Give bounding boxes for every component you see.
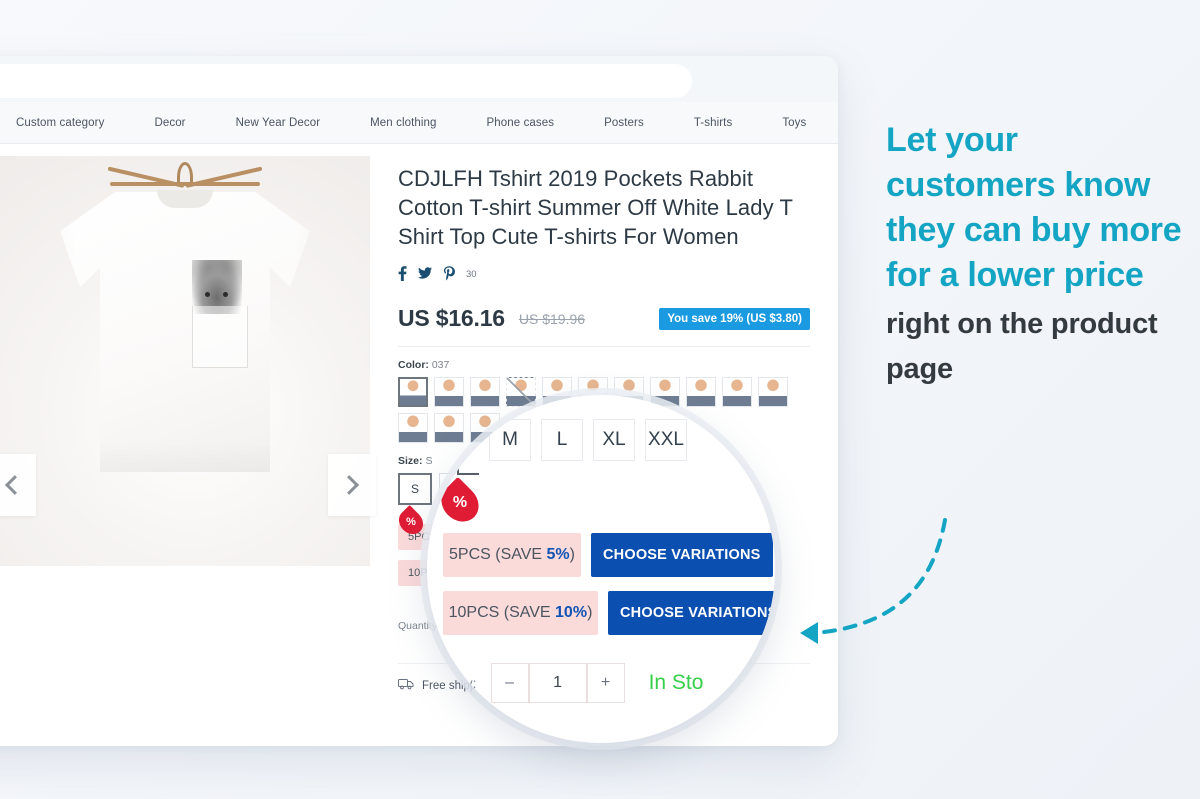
pinterest-icon[interactable] xyxy=(443,266,455,283)
lens-stock-status: In Sto xyxy=(649,671,704,695)
tshirt-graphic xyxy=(60,192,310,472)
promo-headline: Let your customers know they can buy mor… xyxy=(886,118,1186,298)
lens-size-selector: M L XL XXL xyxy=(457,419,687,475)
lens-bulk-offer-pill[interactable]: 5PCS (SAVE 5%) xyxy=(443,533,581,577)
lens-bulk-offer-text-end: ) xyxy=(570,546,575,563)
product-title: CDJLFH Tshirt 2019 Pockets Rabbit Cotton… xyxy=(398,164,798,251)
callout-arrow xyxy=(770,490,980,670)
facebook-icon[interactable] xyxy=(398,266,407,283)
hanger-icon xyxy=(177,162,193,184)
category-item-phone-cases[interactable]: Phone cases xyxy=(475,117,567,129)
lens-size-option-l[interactable]: L xyxy=(541,419,583,461)
lens-size-option-xxl[interactable]: XXL xyxy=(645,419,687,461)
save-badge: You save 19% (US $3.80) xyxy=(659,308,810,330)
gallery-next-button[interactable] xyxy=(328,454,376,516)
lens-choose-variations-button[interactable]: CHOOSE VARIATIONS xyxy=(608,591,775,635)
search-input[interactable] xyxy=(0,64,692,98)
lens-choose-variations-button[interactable]: CHOOSE VARIATIONS xyxy=(591,533,773,577)
color-label: Color: xyxy=(398,359,429,371)
percent-symbol: % xyxy=(400,509,422,535)
lens-bulk-offers: 5PCS (SAVE 5%) CHOOSE VARIATIONS 10PCS (… xyxy=(443,533,775,649)
chevron-left-icon xyxy=(5,475,25,495)
truck-icon xyxy=(398,677,414,695)
category-item-men-clothing[interactable]: Men clothing xyxy=(358,117,448,129)
price-divider xyxy=(398,346,810,347)
price-original: US $19.96 xyxy=(519,311,585,327)
social-share-row: 30 xyxy=(398,265,810,283)
category-item-posters[interactable]: Posters xyxy=(592,117,656,129)
lens-bulk-offer-text: 5PCS (SAVE xyxy=(449,546,547,563)
price-current: US $16.16 xyxy=(398,305,505,332)
magnifier-content: M L XL XXL % 5PCS (SAVE 5%) CHOOSE VARIA… xyxy=(427,395,775,743)
lens-size-option-s-partial[interactable] xyxy=(457,433,479,475)
lens-size-option-m[interactable]: M xyxy=(489,419,531,461)
magnifier-lens: M L XL XXL % 5PCS (SAVE 5%) CHOOSE VARIA… xyxy=(427,395,775,743)
lens-bulk-offer-text-end: ) xyxy=(587,604,592,621)
lens-bulk-offer-percent: 5% xyxy=(547,546,570,563)
size-label: Size: xyxy=(398,455,423,467)
color-swatch[interactable] xyxy=(398,413,428,443)
lens-quantity-label: ntity: xyxy=(447,675,477,691)
hanger-bar xyxy=(110,182,260,186)
tshirt-pocket xyxy=(192,306,248,368)
discount-flame-icon: % xyxy=(400,509,422,535)
price-row: US $16.16 US $19.96 You save 19% (US $3.… xyxy=(398,305,810,332)
category-item-toys[interactable]: Toys xyxy=(770,117,818,129)
product-image[interactable] xyxy=(0,156,370,566)
category-item-t-shirts[interactable]: T-shirts xyxy=(682,117,745,129)
lens-bulk-offer-row: 10PCS (SAVE 10%) CHOOSE VARIATIONS xyxy=(443,591,775,635)
lens-bulk-offer-row: 5PCS (SAVE 5%) CHOOSE VARIATIONS xyxy=(443,533,775,577)
color-value: 037 xyxy=(432,359,450,371)
lens-quantity-decrease-button[interactable]: – xyxy=(491,663,529,703)
lens-bulk-offer-text: 10PCS (SAVE xyxy=(449,604,555,621)
promo-block: Let your customers know they can buy mor… xyxy=(886,118,1186,392)
lens-quantity-increase-button[interactable]: + xyxy=(587,663,625,703)
lens-quantity-block: ntity: – 1 + In Sto xyxy=(447,663,703,703)
color-swatch[interactable] xyxy=(398,377,428,407)
category-nav: Custom category Decor New Year Decor Men… xyxy=(0,102,838,144)
gallery-prev-button[interactable] xyxy=(0,454,36,516)
lens-bulk-offer-pill[interactable]: 10PCS (SAVE 10%) xyxy=(443,591,598,635)
lens-size-option-xl[interactable]: XL xyxy=(593,419,635,461)
lens-quantity-input[interactable]: 1 xyxy=(529,663,587,703)
category-item-custom-category[interactable]: Custom category xyxy=(4,117,116,129)
chevron-right-icon xyxy=(339,475,359,495)
category-item-decor[interactable]: Decor xyxy=(142,117,197,129)
lens-percent-symbol: % xyxy=(443,483,477,523)
promo-subline: right on the product page xyxy=(886,302,1186,392)
store-header xyxy=(0,56,838,102)
twitter-icon[interactable] xyxy=(418,267,432,281)
lens-discount-flame-icon: % xyxy=(443,483,477,523)
pinterest-count: 30 xyxy=(466,269,477,280)
product-gallery xyxy=(0,144,380,746)
category-item-new-year-decor[interactable]: New Year Decor xyxy=(224,117,333,129)
color-label-row: Color: 037 xyxy=(398,359,810,371)
lens-bulk-offer-percent: 10% xyxy=(555,604,587,621)
